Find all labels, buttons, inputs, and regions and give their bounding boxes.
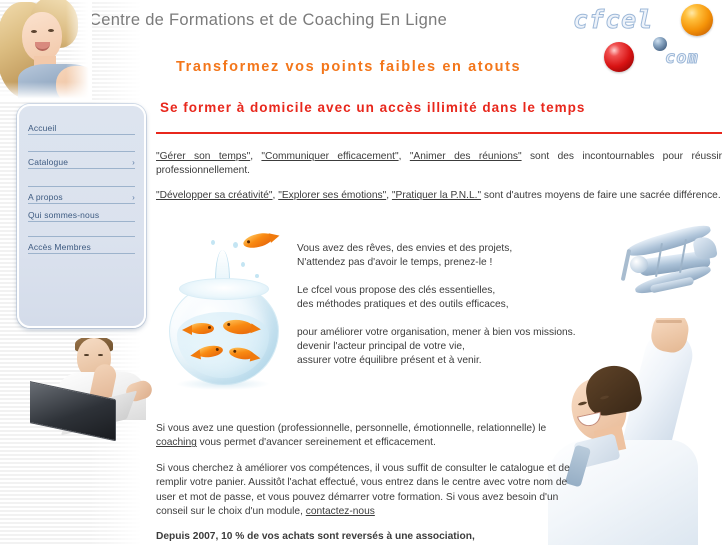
sidebar-item-accueil[interactable]: Accueil [28,118,135,135]
bottom-copy-block: Si vous avez une question (professionnel… [156,422,576,545]
page-root: Centre de Formations et de Coaching En L… [0,0,727,545]
orange-sphere-icon [681,4,713,36]
middle-paragraph-2: Le cfcel vous propose des clés essentiel… [297,284,617,313]
page-title: Centre de Formations et de Coaching En L… [89,11,447,30]
laptop-man-eye-left [84,354,89,356]
goldfish-icon [189,323,214,334]
water-drop [255,274,259,278]
bottom-paragraph-1-b: vous permet d'avancer sereinement et eff… [197,437,436,448]
header-tagline: Transformez vos points faibles en atouts [176,59,521,75]
woman-eye-right [48,29,54,32]
logo-tld: com [665,48,699,68]
sidebar-item-label: A propos [28,192,63,202]
chevron-right-icon: › [132,194,135,202]
bottom-paragraph-1: Si vous avez une question (professionnel… [156,422,576,451]
sidebar-item-acces-membres[interactable]: Accès Membres [28,237,135,254]
main-red-heading: Se former à domicile avec un accès illim… [160,100,585,115]
sidebar-item-a-propos[interactable]: A propos › [28,187,135,204]
course-link-pratiquer-la-pnl[interactable]: "Pratiquer la P.N.L." [392,190,481,201]
jumping-goldfish-icon [242,231,274,251]
chevron-right-icon: › [132,159,135,167]
coaching-link[interactable]: coaching [156,437,197,448]
fishbowl-shadow [177,378,269,390]
contact-link[interactable]: contactez-nous [306,506,375,517]
woman-eye-left [31,30,37,33]
sidebar-item-label: Qui sommes-nous [28,210,99,220]
woman-fade-bottom [0,82,92,100]
sidebar-item-qui-sommes-nous[interactable]: Qui sommes-nous [28,205,135,222]
heading-divider [156,132,722,134]
woman-face [22,12,62,62]
bottom-paragraph-2: Si vous cherchez à améliorer vos compéte… [156,462,576,520]
sep: , [250,151,261,162]
bottom-paragraph-1-a: Si vous avez une question (professionnel… [156,423,546,434]
course-link-communiquer-efficacement[interactable]: "Communiquer efficacement" [261,151,398,162]
intro-paragraph-2-tail: sont d'autres moyens de faire une sacrée… [481,190,721,201]
man-with-laptop-photo [30,338,158,448]
course-link-explorer-ses-emotions[interactable]: "Explorer ses émotions" [278,190,386,201]
red-sphere-icon [604,42,634,72]
logo-wordmark: cfcel [573,5,653,34]
laptop-man-eye-right [98,354,103,356]
intro-paragraph-2: "Développer sa créativité", "Explorer se… [156,189,722,203]
course-link-gerer-son-temps[interactable]: "Gérer son temps" [156,151,250,162]
goldfish-bowl-photo [155,228,290,393]
course-link-animer-des-reunions[interactable]: "Animer des réunions" [410,151,522,162]
middle-paragraph-3: pour améliorer votre organisation, mener… [297,326,617,369]
sep: , [399,151,410,162]
water-drop [241,262,245,267]
sidebar-item-catalogue[interactable]: Catalogue › [28,152,135,169]
donation-note: Depuis 2007, 10 % de vos achats sont rev… [156,530,576,544]
sidebar-item-label: Accueil [28,123,56,133]
sidebar-item-label: Catalogue [28,157,68,167]
sidebar-item-label: Accès Membres [28,242,91,252]
middle-paragraph-1: Vous avez des rêves, des envies et des p… [297,242,617,271]
cheer-knuckles [656,320,682,323]
water-drop [211,240,215,245]
blue-sphere-icon [653,37,667,51]
intro-paragraph-1: "Gérer son temps", "Communiquer efficace… [156,150,722,178]
fishbowl-rim [179,278,269,300]
sidebar-nav-panel: Accueil Catalogue › A propos › Qui somme… [17,104,146,328]
water-drop [233,242,238,248]
plane-nose [630,256,648,273]
course-link-developper-sa-creativite[interactable]: "Développer sa créativité" [156,190,273,201]
plane-tail [692,235,717,260]
middle-copy-block: Vous avez des rêves, des envies et des p… [297,242,617,369]
cfcel-logo[interactable]: cfcel com [560,2,727,90]
smiling-woman-photo [0,0,92,100]
vintage-seaplane-photo [616,225,722,317]
